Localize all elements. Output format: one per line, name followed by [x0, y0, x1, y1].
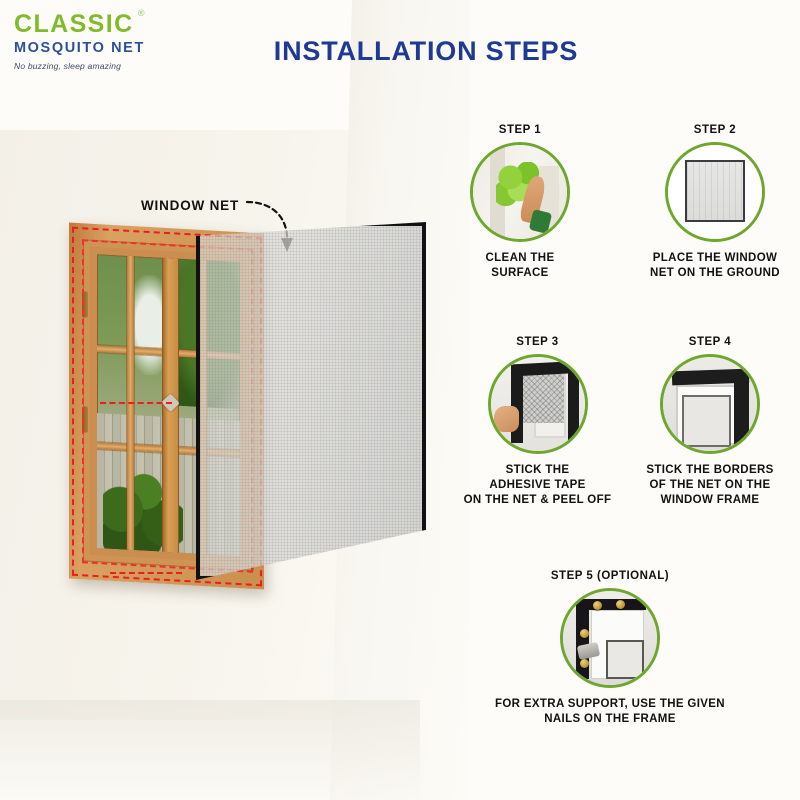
- window-hinge-bottom: [82, 407, 88, 433]
- step-1-caption: CLEAN THE SURFACE: [465, 251, 575, 281]
- step-3-caption: STICK THE ADHESIVE TAPE ON THE NET & PEE…: [460, 463, 615, 509]
- nail-icon-3: [580, 629, 589, 638]
- brand-logo: CLASSIC® MOSQUITO NET No buzzing, sleep …: [14, 12, 214, 71]
- window-illustration: [62, 222, 412, 592]
- step-2-card: STEP 2 PLACE THE WINDOW NET ON THE GROUN…: [645, 124, 785, 281]
- step-4-title: STEP 4: [630, 336, 790, 348]
- mosquito-net-panel: [196, 222, 426, 580]
- brand-product: MOSQUITO NET: [14, 39, 214, 59]
- s4-net-border-right: [734, 372, 749, 445]
- installation-steps-infographic: CLASSIC® MOSQUITO NET No buzzing, sleep …: [0, 0, 800, 800]
- step-1-image: [470, 142, 570, 242]
- s5-window-pane: [606, 640, 644, 679]
- step-2-title: STEP 2: [645, 124, 785, 136]
- guide-tick-bottom: [110, 572, 182, 574]
- nail-icon-2: [616, 600, 625, 609]
- step-3-image: [488, 354, 588, 454]
- step-1-title: STEP 1: [465, 124, 575, 136]
- brand-tagline: No buzzing, sleep amazing: [14, 61, 214, 71]
- page-title: INSTALLATION STEPS: [256, 36, 596, 67]
- hand-peeling-tape-icon: [494, 406, 518, 432]
- s3-black-border-right: [568, 366, 579, 443]
- step-2-caption: PLACE THE WINDOW NET ON THE GROUND: [645, 251, 785, 281]
- step-3-card: STEP 3 STICK THE ADHESIVE TAPE ON THE NE…: [460, 336, 615, 509]
- window-net-callout-label: WINDOW NET: [141, 198, 239, 213]
- step-5-caption: FOR EXTRA SUPPORT, USE THE GIVEN NAILS O…: [485, 697, 735, 727]
- floor-shadow: [0, 700, 420, 800]
- step-4-caption: STICK THE BORDERS OF THE NET ON THE WIND…: [630, 463, 790, 509]
- step-1-card: STEP 1 CLEAN THE SURFACE: [465, 124, 575, 281]
- step-4-image: [660, 354, 760, 454]
- step-5-card: STEP 5 (OPTIONAL) FOR EXTRA SUPPORT, USE…: [485, 570, 735, 727]
- s4-window-pane: [682, 395, 731, 448]
- mesh-square-icon: [685, 160, 745, 222]
- registered-mark-icon: ®: [138, 9, 145, 18]
- s3-mesh-area: [522, 374, 563, 423]
- step-5-image: [560, 588, 660, 688]
- guide-tick-middle: [100, 402, 172, 404]
- step-2-image: [665, 142, 765, 242]
- step-3-title: STEP 3: [460, 336, 615, 348]
- step-5-title: STEP 5 (OPTIONAL): [485, 570, 735, 582]
- window-hinge-top: [82, 291, 88, 317]
- step-4-card: STEP 4 STICK THE BORDERS OF THE NET ON T…: [630, 336, 790, 509]
- nail-icon-4: [580, 659, 589, 668]
- brand-name: CLASSIC®: [14, 12, 134, 37]
